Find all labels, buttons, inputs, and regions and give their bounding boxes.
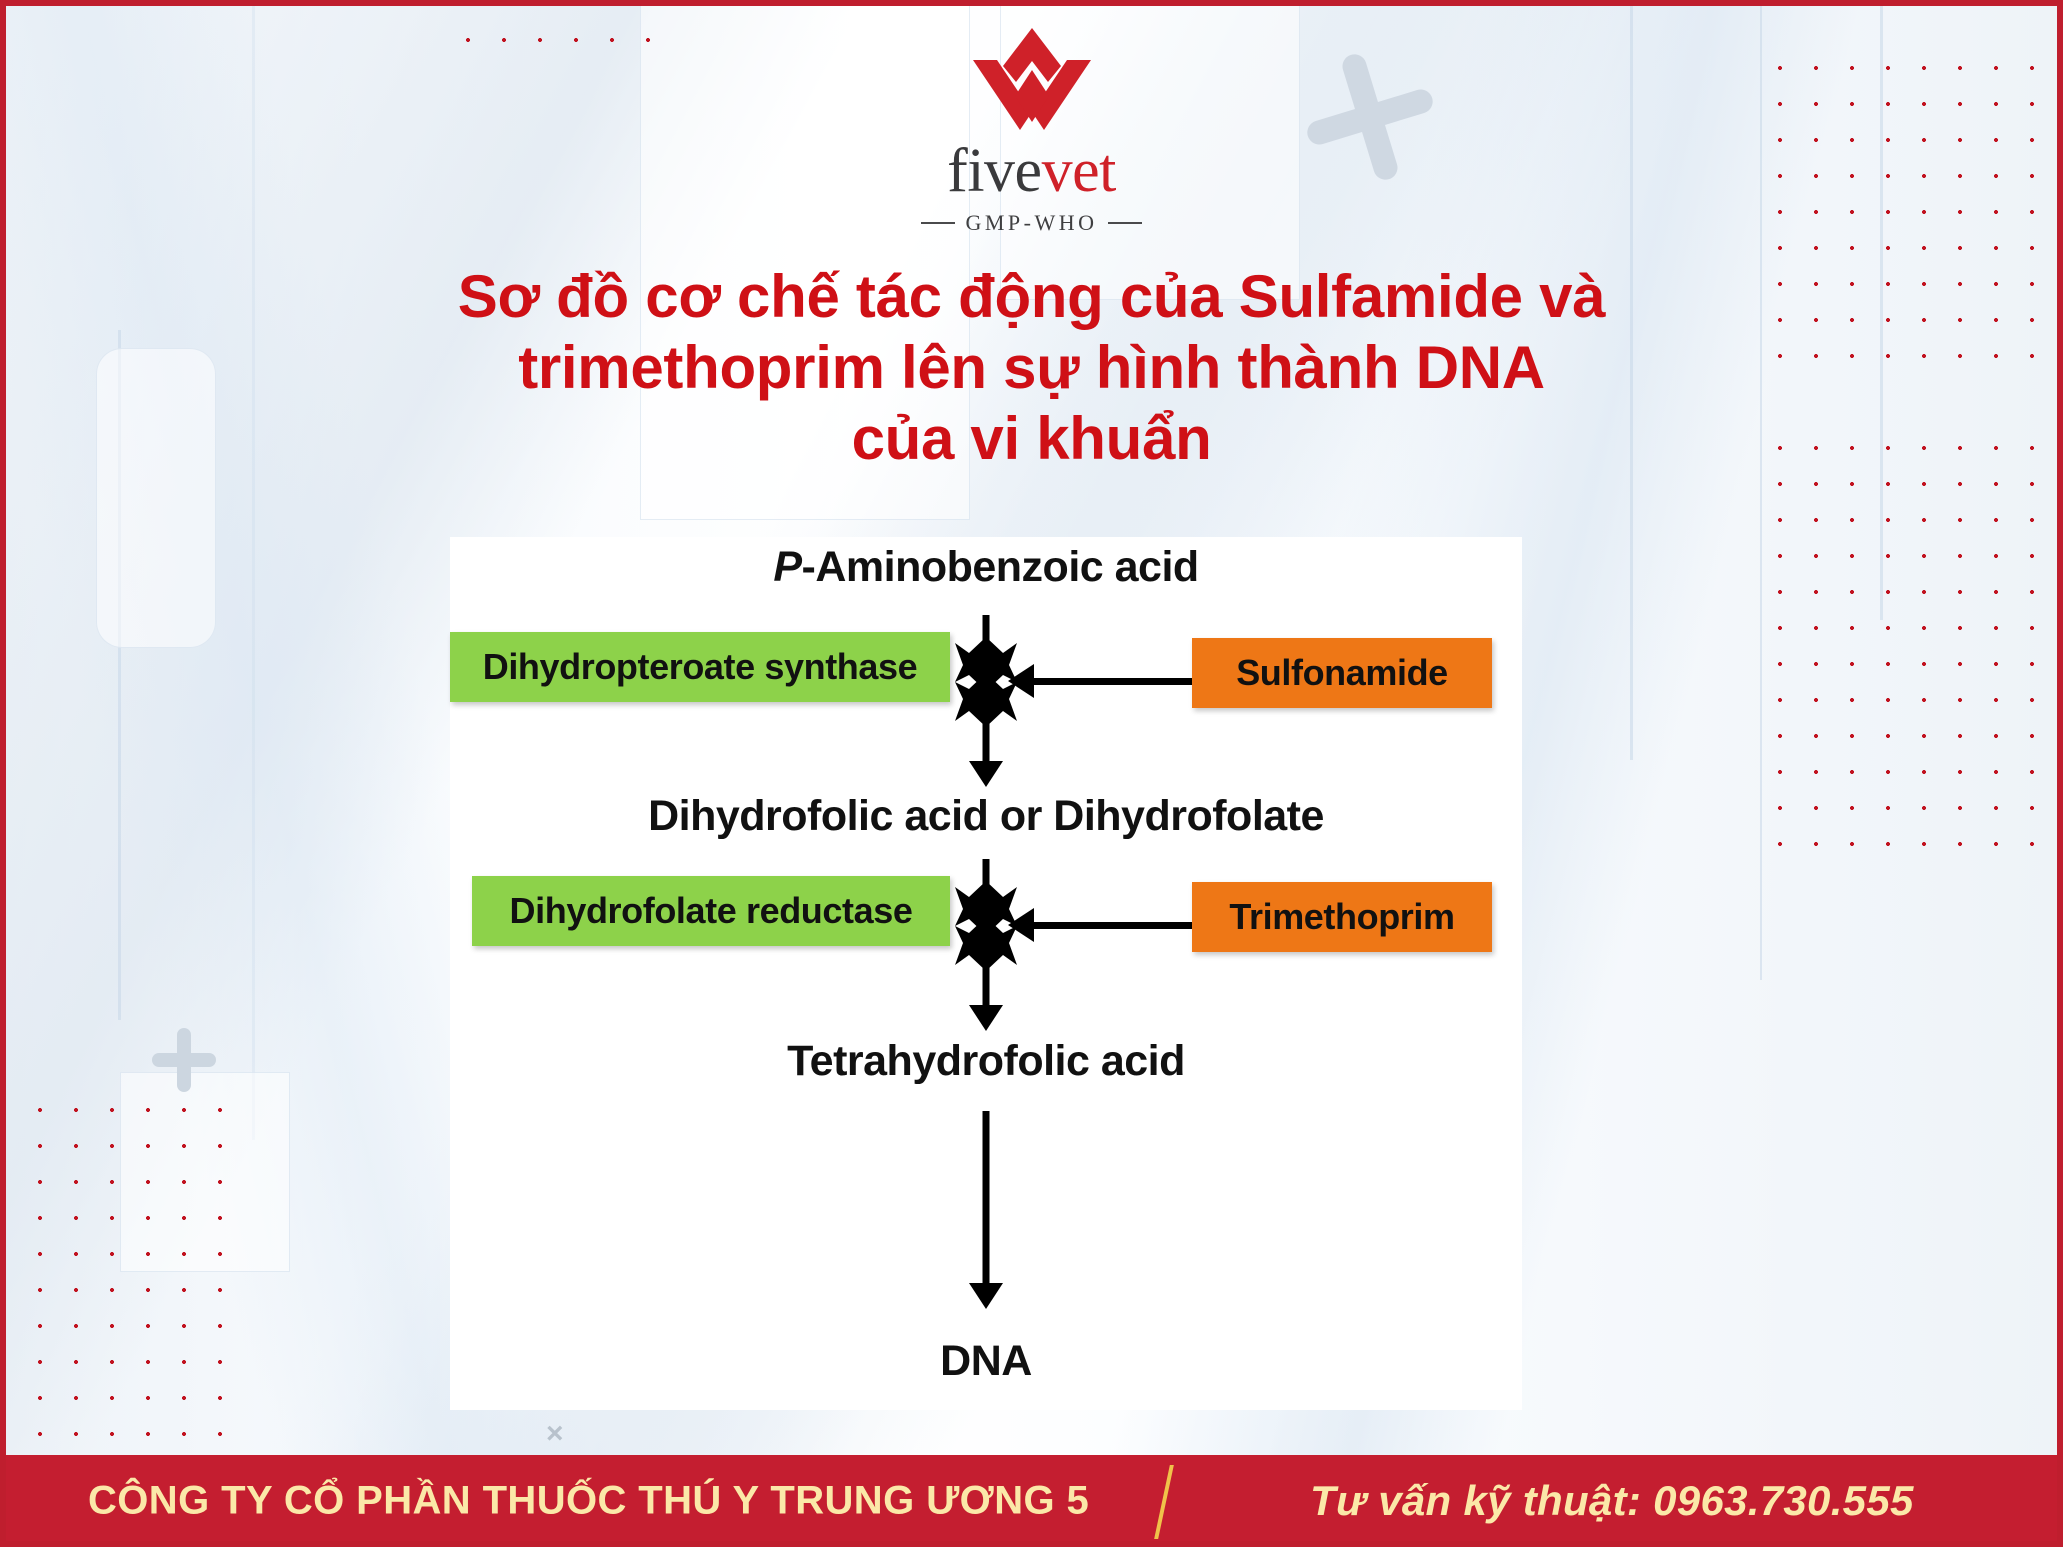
inhibitor-label: Sulfonamide bbox=[1236, 652, 1448, 693]
fivevet-chevron-icon bbox=[957, 26, 1107, 134]
plus-icon bbox=[152, 1028, 216, 1092]
node-dna: DNA bbox=[450, 1337, 1522, 1386]
arrowhead-left-2 bbox=[1008, 908, 1034, 942]
brand-certification: GMP-WHO bbox=[0, 210, 2063, 236]
poster-canvas: fivevet GMP-WHO Sơ đồ cơ chế tác động củ… bbox=[0, 0, 2063, 1547]
enzyme-label: Dihydropteroate synthase bbox=[483, 646, 918, 687]
paba-label: -Aminobenzoic acid bbox=[802, 543, 1199, 591]
paba-prefix: P bbox=[773, 543, 801, 591]
page-title: Sơ đồ cơ chế tác động của Sulfamide và t… bbox=[0, 262, 2063, 474]
enzyme-box-dihydrofolate-reductase: Dihydrofolate reductase bbox=[472, 876, 950, 946]
brand-logo: fivevet GMP-WHO bbox=[0, 26, 2063, 236]
dot-grid-right bbox=[1762, 430, 2063, 860]
arrowhead-left-1 bbox=[1008, 664, 1034, 698]
pathway-arrow-1-lower bbox=[983, 709, 990, 765]
brand-name-part1: five bbox=[947, 137, 1041, 205]
inhibitor-box-sulfonamide: Sulfonamide bbox=[1192, 638, 1492, 708]
banner-divider bbox=[1154, 1465, 1174, 1539]
pathway-diagram: P-Aminobenzoic acid Dihydropteroate synt… bbox=[450, 537, 1522, 1410]
pathway-diagram-panel: P-Aminobenzoic acid Dihydropteroate synt… bbox=[450, 537, 1522, 1410]
pathway-arrow-3 bbox=[983, 1111, 990, 1287]
arrowhead-down-3 bbox=[969, 1283, 1003, 1309]
brand-name-part2: vet bbox=[1042, 137, 1116, 205]
node-p-aminobenzoic-acid: P-Aminobenzoic acid bbox=[450, 543, 1522, 592]
footer-banner: CÔNG TY CỔ PHẦN THUỐC THÚ Y TRUNG ƯƠNG 5… bbox=[0, 1455, 2063, 1547]
inhibition-arrow-line-1 bbox=[1032, 678, 1192, 685]
inhibitor-box-trimethoprim: Trimethoprim bbox=[1192, 882, 1492, 952]
support-phone: Tư vấn kỹ thuật: 0963.730.555 bbox=[1310, 1477, 1914, 1525]
page-title-line1: Sơ đồ cơ chế tác động của Sulfamide và bbox=[0, 262, 2063, 333]
arrowhead-down-1 bbox=[969, 761, 1003, 787]
inhibitor-label: Trimethoprim bbox=[1229, 896, 1454, 937]
rule-right bbox=[1108, 222, 1142, 224]
arrowhead-down-2 bbox=[969, 1005, 1003, 1031]
enzyme-box-dihydropteroate-synthase: Dihydropteroate synthase bbox=[450, 632, 950, 702]
node-tetrahydrofolic-acid: Tetrahydrofolic acid bbox=[450, 1037, 1522, 1086]
rule-left bbox=[921, 222, 955, 224]
node-dihydrofolic-acid: Dihydrofolic acid or Dihydrofolate bbox=[450, 792, 1522, 841]
dot-grid-bottom-left bbox=[22, 1092, 252, 1462]
page-title-line2: trimethoprim lên sự hình thành DNA bbox=[0, 333, 2063, 404]
close-icon[interactable]: × bbox=[546, 1419, 564, 1449]
inhibition-arrow-line-2 bbox=[1032, 922, 1192, 929]
certification-label: GMP-WHO bbox=[965, 210, 1097, 236]
page-title-line3: của vi khuẩn bbox=[0, 404, 2063, 475]
pathway-arrow-2-lower bbox=[983, 953, 990, 1009]
company-name: CÔNG TY CỔ PHẦN THUỐC THÚ Y TRUNG ƯƠNG 5 bbox=[88, 1479, 1089, 1524]
brand-wordmark: fivevet bbox=[0, 140, 2063, 202]
enzyme-label: Dihydrofolate reductase bbox=[510, 890, 913, 931]
